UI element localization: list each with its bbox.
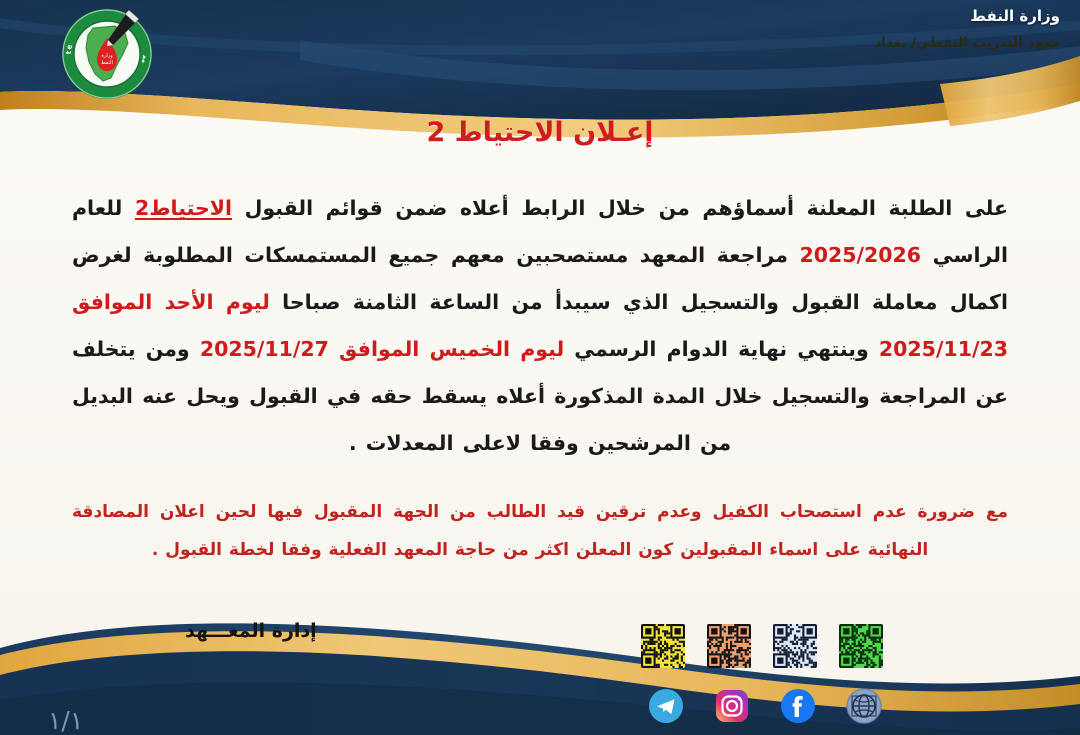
ministry-name: وزارة النفط	[874, 6, 1060, 26]
institute-logo: Baghdad Oil Training Institute معهد التد…	[55, 2, 159, 106]
website-globe-icon[interactable]	[844, 686, 884, 726]
announcement-poster: Baghdad Oil Training Institute معهد التد…	[0, 0, 1080, 735]
qr-code-row	[641, 624, 883, 668]
svg-text:النفط: النفط	[101, 60, 113, 66]
telegram-icon[interactable]	[646, 686, 686, 726]
page-number: ١/١	[48, 706, 83, 735]
instagram-icon[interactable]	[712, 686, 752, 726]
page-title: إعـلان الاحتياط 2	[0, 117, 1080, 148]
paragraph-segment-1: الاحتياط2	[135, 196, 232, 220]
header-titles: وزارة النفط معهد التدريب النفطي/ بغداد	[874, 6, 1060, 52]
social-links-row	[646, 686, 884, 726]
note-paragraph: مع ضرورة عدم استصحاب الكفيل وعدم ترقين ق…	[72, 493, 1008, 569]
paragraph-segment-7: ليوم الخميس الموافق 2025/11/27	[200, 337, 564, 361]
qr-code-white[interactable]	[773, 624, 817, 668]
paragraph-segment-6: وينتهي نهاية الدوام الرسمي	[564, 337, 879, 361]
svg-text:وزارة: وزارة	[101, 53, 113, 59]
paragraph-segment-0: على الطلبة المعلنة أسماؤهم من خلال الراب…	[232, 196, 1008, 220]
facebook-icon[interactable]	[778, 686, 818, 726]
qr-code-green[interactable]	[839, 624, 883, 668]
qr-code-yellow[interactable]	[641, 624, 685, 668]
paragraph-segment-3: 2025/2026	[799, 243, 921, 267]
signature-line: إدارة المعـــهد	[185, 620, 317, 642]
announcement-body: على الطلبة المعلنة أسماؤهم من خلال الراب…	[72, 185, 1008, 569]
institute-name: معهد التدريب النفطي/ بغداد	[874, 34, 1060, 52]
institute-seal-icon: Baghdad Oil Training Institute معهد التد…	[55, 2, 159, 106]
main-paragraph: على الطلبة المعلنة أسماؤهم من خلال الراب…	[72, 185, 1008, 467]
qr-code-orange[interactable]	[707, 624, 751, 668]
